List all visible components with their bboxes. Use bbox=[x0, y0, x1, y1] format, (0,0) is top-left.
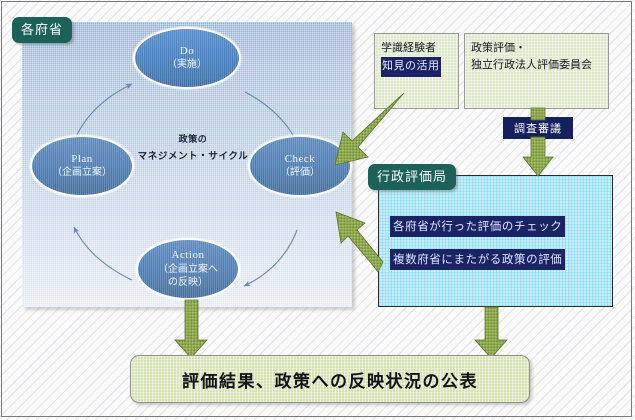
cycle-node-do[interactable]: Do （実施） bbox=[133, 27, 241, 89]
cycle-node-action-en: Action bbox=[172, 249, 205, 263]
cycle-node-action[interactable]: Action （企画立案へ の反映） bbox=[136, 238, 240, 300]
diagram-canvas: Do （実施） Check （評価） Action （企画立案へ の反映） Pl… bbox=[0, 0, 635, 420]
cycle-center-label-line1: 政策の bbox=[118, 131, 268, 148]
experts-box: 学識経験者 知見の活用 bbox=[374, 33, 459, 109]
bureau-item-check: 各府省が行った評価のチェック bbox=[390, 216, 565, 237]
bureau-panel-tag: 行政評価局 bbox=[368, 164, 456, 190]
cycle-node-check-jp: （評価） bbox=[280, 166, 320, 179]
committee-box: 政策評価・ 独立行政法人評価委員会 bbox=[464, 33, 609, 109]
experts-box-highlight: 知見の活用 bbox=[381, 57, 441, 77]
committee-box-line2: 独立行政法人評価委員会 bbox=[471, 57, 602, 74]
flow-arrow-bureau-to-banner bbox=[475, 307, 507, 358]
flow-arrow-action-to-banner bbox=[175, 300, 207, 358]
cycle-node-plan-jp: （企画立案） bbox=[52, 166, 112, 179]
cycle-node-plan-en: Plan bbox=[71, 153, 93, 167]
bureau-panel: 各府省が行った評価のチェック 複数府省にまたがる政策の評価 bbox=[378, 175, 613, 307]
cycle-node-action-jp-line1: （企画立案へ bbox=[158, 263, 218, 276]
cycle-node-check-en: Check bbox=[285, 153, 316, 167]
result-banner: 評価結果、政策への反映状況の公表 bbox=[130, 355, 530, 403]
cycle-node-do-jp: （実施） bbox=[167, 58, 207, 71]
cycle-node-action-jp-line2: の反映） bbox=[168, 276, 208, 289]
cycle-center-label: 政策の マネジメント・サイクル bbox=[118, 131, 268, 166]
ministry-panel-tag: 各府省 bbox=[12, 17, 72, 43]
flow-arrow-shingi-to-bureau bbox=[523, 137, 553, 176]
experts-box-title: 学識経験者 bbox=[381, 40, 452, 57]
cycle-node-do-en: Do bbox=[180, 45, 194, 59]
cycle-center-label-line2: マネジメント・サイクル bbox=[118, 148, 268, 166]
bureau-item-cross-ministry: 複数府省にまたがる政策の評価 bbox=[390, 249, 565, 270]
committee-box-line1: 政策評価・ bbox=[471, 40, 602, 57]
shingi-badge: 調査審議 bbox=[503, 117, 573, 139]
